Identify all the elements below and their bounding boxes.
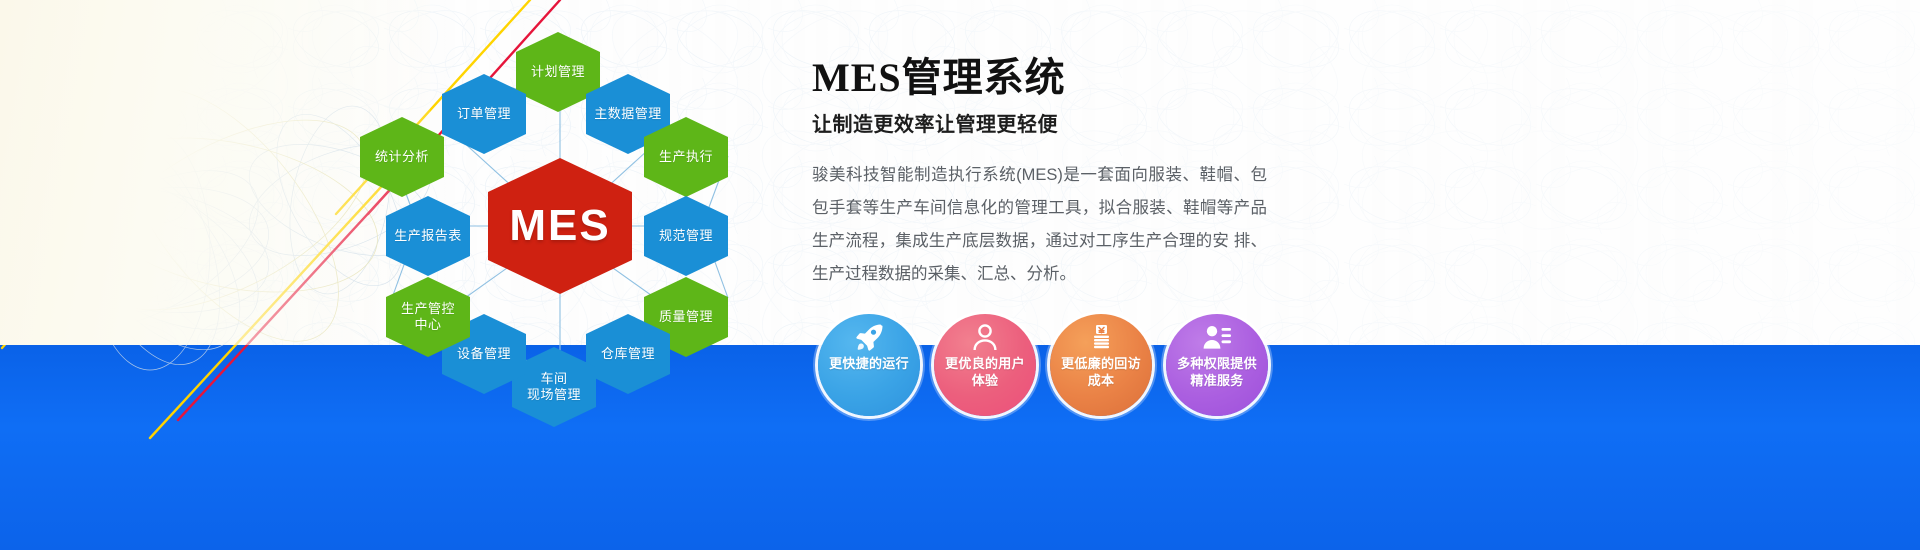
page-description: 骏美科技智能制造执行系统(MES)是一套面向服装、鞋帽、包包手套等生产车间信息化… <box>812 159 1267 291</box>
hex-node-label-2: 生产执行 <box>655 149 717 165</box>
feature-badge-3[interactable]: 多种权限提供精准服务 <box>1166 314 1268 416</box>
hex-node-label-5: 仓库管理 <box>597 346 659 362</box>
feature-badge-list: 更快捷的运行 更优良的用户体验 <box>812 308 1452 438</box>
rocket-icon <box>854 322 884 352</box>
feature-badge-label-2: 更低廉的回访成本 <box>1053 355 1149 389</box>
hex-center-label: MES <box>509 201 610 251</box>
user-list-icon <box>1202 322 1232 352</box>
feature-badge-0[interactable]: 更快捷的运行 <box>818 314 920 416</box>
feature-badge-2[interactable]: 更低廉的回访成本 <box>1050 314 1152 416</box>
mes-hexagon-diagram: MES 计划管理 主数据管理 生产执行 规范管理 质量管理 仓库管理 车间现场管… <box>320 10 820 440</box>
hex-node-label-0: 计划管理 <box>527 64 589 80</box>
hex-node-label-3: 规范管理 <box>655 228 717 244</box>
feature-badge-label-3: 多种权限提供精准服务 <box>1169 355 1265 389</box>
hex-node-label-4: 质量管理 <box>655 309 717 325</box>
user-icon <box>971 322 999 352</box>
hex-node-label-9: 生产报告表 <box>390 228 466 244</box>
banner-stage: MES 计划管理 主数据管理 生产执行 规范管理 质量管理 仓库管理 车间现场管… <box>0 0 1920 550</box>
hex-node-label-8: 生产管控中心 <box>397 301 459 332</box>
hex-node-label-1: 主数据管理 <box>590 106 666 122</box>
hex-node-label-10: 统计分析 <box>371 149 433 165</box>
feature-badge-label-0: 更快捷的运行 <box>821 355 917 372</box>
page-title: MES管理系统 <box>812 56 1872 100</box>
banner-text-panel: MES管理系统 让制造更效率让管理更轻便 骏美科技智能制造执行系统(MES)是一… <box>812 56 1872 526</box>
hex-node-label-11: 订单管理 <box>453 106 515 122</box>
feature-badge-1[interactable]: 更优良的用户体验 <box>934 314 1036 416</box>
hex-node-label-7: 设备管理 <box>453 346 515 362</box>
hex-node-label-6: 车间现场管理 <box>523 371 585 402</box>
page-subtitle: 让制造更效率让管理更轻便 <box>812 108 1872 137</box>
coins-yen-icon <box>1087 322 1115 352</box>
feature-badge-label-1: 更优良的用户体验 <box>937 355 1033 389</box>
